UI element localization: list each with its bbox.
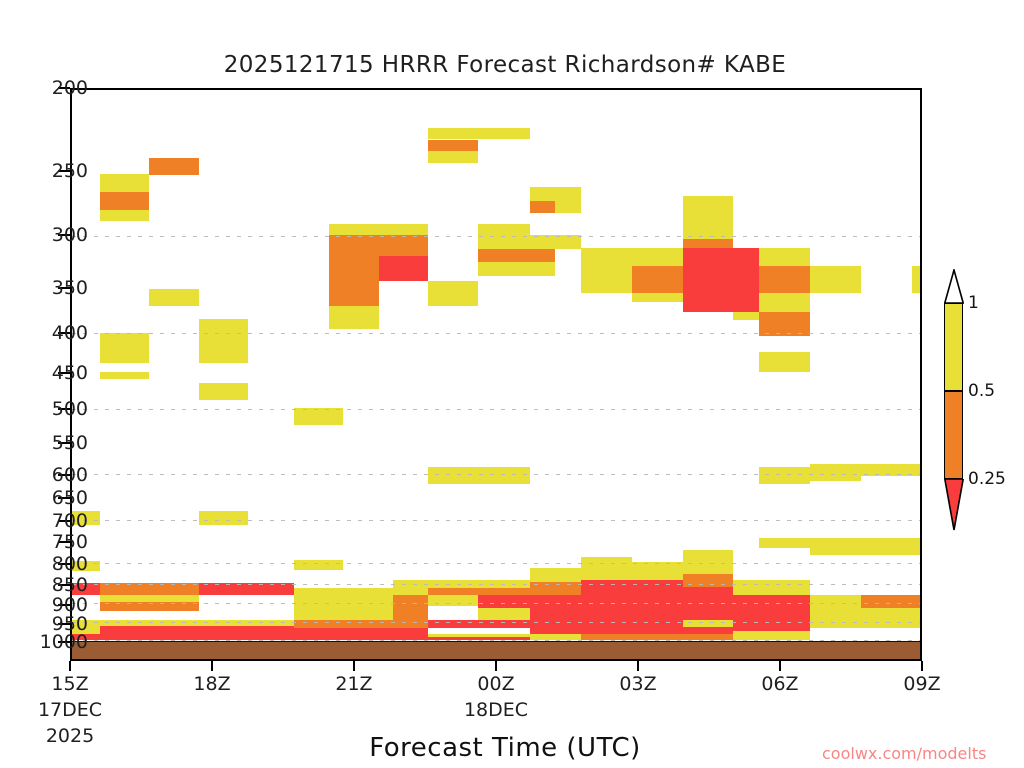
- heatmap-cell: [733, 580, 809, 595]
- heatmap-cell: [478, 588, 530, 595]
- y-axis-tick-label: 400: [52, 322, 88, 344]
- heatmap-cell: [100, 626, 294, 640]
- colorbar-under-arrow: [944, 479, 964, 531]
- y-axis-tick-label: 300: [52, 224, 88, 246]
- y-axis-tick-label: 350: [52, 277, 88, 299]
- heatmap-cell: [478, 608, 530, 621]
- heatmap-cell: [555, 201, 580, 214]
- heatmap-cell: [530, 262, 555, 276]
- colorbar-tick-label: 0.25: [968, 469, 1006, 489]
- x-axis-tick-label: 03Z: [619, 673, 656, 695]
- x-axis-tick: [779, 661, 781, 671]
- heatmap-cell: [530, 595, 581, 620]
- gridline: [72, 563, 920, 564]
- heatmap-cell: [478, 595, 530, 608]
- x-axis-tick-label: 06Z: [761, 673, 798, 695]
- heatmap-cell: [379, 256, 428, 280]
- heatmap-cell: [530, 568, 581, 582]
- heatmap-cell: [632, 562, 683, 580]
- x-axis-tick: [69, 661, 71, 671]
- heatmap-cell: [428, 128, 530, 139]
- heatmap-cell: [478, 262, 530, 276]
- x-axis-tick-label: 21Z: [335, 673, 372, 695]
- heatmap-cell: [632, 293, 683, 302]
- y-axis-tick-label: 500: [52, 398, 88, 420]
- heatmap-cell: [100, 210, 149, 221]
- heatmap-cell: [581, 248, 632, 292]
- heatmap-cell: [530, 201, 555, 214]
- heatmap-cell: [329, 306, 379, 329]
- heatmap-cell: [759, 266, 810, 292]
- x-axis-tick: [637, 661, 639, 671]
- heatmap-cell: [428, 140, 478, 152]
- heatmap-cell: [428, 281, 478, 307]
- x-axis-tick-label: 09Z: [903, 673, 940, 695]
- colorbar-segment: [944, 303, 963, 391]
- y-axis-tick-label: 450: [52, 362, 88, 384]
- gridline: [72, 474, 920, 475]
- heatmap-cell: [683, 550, 734, 574]
- heatmap-cell: [329, 281, 379, 307]
- plot-area: [70, 88, 922, 661]
- heatmap-cell: [199, 511, 248, 525]
- heatmap-cell: [393, 580, 428, 595]
- y-axis-tick-label: 750: [52, 531, 88, 553]
- x-axis-tick-label: 00Z: [477, 673, 514, 695]
- x-axis-tick: [495, 661, 497, 671]
- heatmap-cell: [861, 595, 920, 608]
- colorbar-tick-label: 0.5: [968, 381, 995, 401]
- heatmap-cell: [759, 293, 810, 312]
- heatmap-cell: [199, 319, 248, 363]
- heatmap-cell: [428, 467, 530, 484]
- y-axis-tick-label: 1000: [40, 631, 88, 653]
- heatmap-cell: [294, 408, 342, 425]
- x-axis-tick: [211, 661, 213, 671]
- heatmap-cell: [530, 187, 581, 201]
- heatmap-cell: [100, 333, 149, 363]
- heatmap-cell: [759, 538, 810, 548]
- colorbar-bar: [944, 303, 963, 479]
- heatmap-cell: [810, 628, 920, 641]
- gridline: [72, 236, 920, 237]
- gridline: [72, 622, 920, 623]
- heatmap-cell: [683, 227, 734, 240]
- heatmap-cell: [530, 249, 555, 262]
- heatmap-cell: [428, 588, 478, 595]
- heatmap-cell: [530, 235, 581, 249]
- heatmap-cell: [912, 266, 920, 292]
- richardson-number-heatmap-chart: 2025121715 HRRR Forecast Richardson# KAB…: [0, 0, 1024, 768]
- heatmap-cell: [759, 248, 810, 266]
- y-axis-tick-label: 650: [52, 487, 88, 509]
- heatmap-cell: [149, 289, 199, 307]
- heatmap-cell: [810, 538, 920, 555]
- chart-title: 2025121715 HRRR Forecast Richardson# KAB…: [0, 52, 1010, 78]
- y-axis-tick-label: 250: [52, 160, 88, 182]
- terrain-ground-band: [72, 641, 920, 659]
- heatmap-cell: [581, 557, 632, 581]
- x-axis-tick: [353, 661, 355, 671]
- heatmap-cell: [632, 266, 683, 292]
- heatmap-cell: [199, 595, 294, 620]
- x-axis-tick-label: 15Z: [51, 673, 88, 695]
- gridline: [72, 603, 920, 604]
- heatmap-cell: [759, 352, 810, 372]
- heatmap-cell: [581, 580, 683, 620]
- x-axis-date-label: 17DEC: [38, 699, 102, 721]
- heatmap-cell: [683, 196, 734, 227]
- colorbar-tick-label: 1: [968, 293, 979, 313]
- gridline: [72, 333, 920, 334]
- heatmap-cell: [810, 464, 861, 481]
- heatmap-cell: [100, 372, 149, 379]
- heatmap-cell: [810, 595, 861, 620]
- y-axis-tick-label: 800: [52, 553, 88, 575]
- y-axis-tick-label: 600: [52, 464, 88, 486]
- heatmap-cell: [733, 248, 758, 312]
- x-axis-tick: [921, 661, 923, 671]
- heatmap-cell: [294, 588, 393, 602]
- colorbar-over-arrow-outline: [944, 269, 964, 304]
- heatmap-cell: [294, 628, 428, 641]
- heatmap-cell: [478, 249, 530, 262]
- heatmap-cell: [683, 239, 734, 248]
- heatmap-cell: [861, 608, 920, 621]
- heatmap-cell: [683, 248, 734, 312]
- heatmap-cell: [100, 611, 199, 620]
- heatmap-cell: [294, 560, 342, 570]
- gridline: [72, 584, 920, 585]
- heatmap-cell: [100, 192, 149, 210]
- heatmap-cell: [329, 224, 428, 235]
- heatmap-cell: [632, 248, 683, 266]
- heatmap-cell: [733, 631, 809, 641]
- heatmap-cell: [100, 174, 149, 192]
- heatmap-cell: [683, 574, 734, 588]
- y-axis-tick-label: 200: [52, 77, 88, 99]
- x-axis-tick-label: 18Z: [193, 673, 230, 695]
- y-axis-tick-label: 550: [52, 432, 88, 454]
- heatmap-cell: [733, 312, 758, 321]
- heatmap-cell: [294, 602, 393, 620]
- watermark-credit: coolwx.com/modelts: [822, 744, 986, 763]
- gridline: [72, 520, 920, 521]
- heatmap-cell: [759, 467, 810, 484]
- heatmap-cell: [683, 627, 734, 634]
- heatmap-cell: [733, 595, 809, 620]
- heatmap-cell: [428, 151, 478, 163]
- gridline: [72, 409, 920, 410]
- heatmap-cell: [393, 595, 428, 620]
- colorbar-segment: [944, 391, 963, 479]
- heatmap-cell: [199, 383, 248, 400]
- heatmap-cell: [428, 606, 478, 621]
- x-axis-date-label: 18DEC: [464, 699, 528, 721]
- heatmap-cell: [810, 266, 861, 292]
- heatmap-cell: [100, 595, 199, 602]
- plot-clip: [72, 90, 920, 659]
- heatmap-cell: [149, 158, 199, 176]
- y-axis-tick-label: 700: [52, 510, 88, 532]
